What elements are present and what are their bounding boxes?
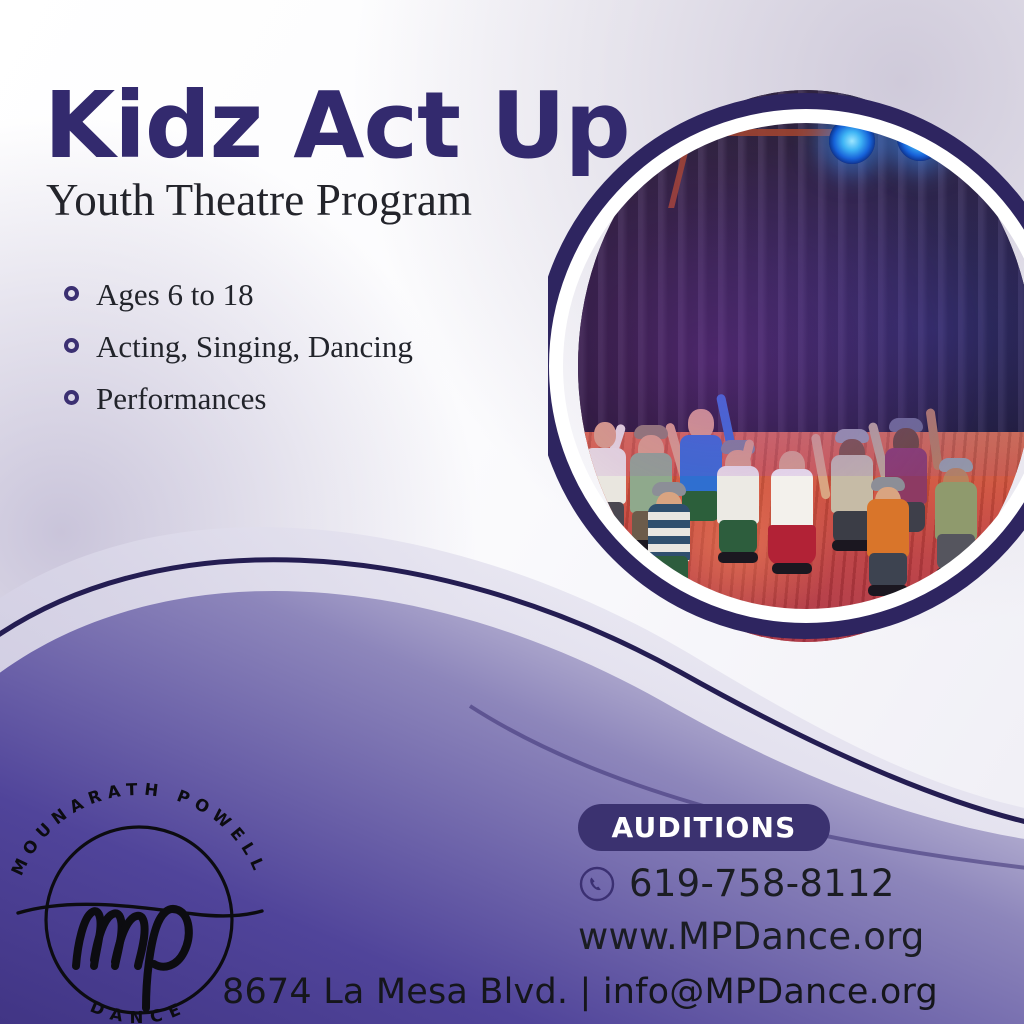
phone-row[interactable]: 619-758-8112 [578,862,895,905]
page-subtitle: Youth Theatre Program [46,176,472,226]
logo-monogram [76,909,189,1008]
photo-circle [548,58,1024,674]
photo-ring [548,58,1024,674]
website-url[interactable]: www.MPDance.org [578,915,925,958]
list-item: Performances [64,380,484,418]
list-item: Acting, Singing, Dancing [64,328,484,366]
flyer-canvas: Kidz Act Up Youth Theatre Program Ages 6… [0,0,1024,1024]
list-item-label: Performances [96,380,266,418]
phone-circle-icon [578,865,616,903]
auditions-badge[interactable]: AUDITIONS [578,804,830,851]
feature-list: Ages 6 to 18 Acting, Singing, Dancing Pe… [64,276,484,431]
logo-arc-top-text: MOUNARATH POWELL [8,780,271,879]
phone-number: 619-758-8112 [629,862,895,905]
address-and-email[interactable]: 8674 La Mesa Blvd. | info@MPDance.org [222,972,938,1012]
page-title: Kidz Act Up [44,80,630,172]
bullet-ring-icon [64,338,79,353]
bullet-ring-icon [64,286,79,301]
auditions-label: AUDITIONS [612,811,797,844]
list-item-label: Acting, Singing, Dancing [96,328,413,366]
list-item: Ages 6 to 18 [64,276,484,314]
logo-arc-bottom-text: DANCE [87,997,190,1024]
bullet-ring-icon [64,390,79,405]
list-item-label: Ages 6 to 18 [96,276,254,314]
